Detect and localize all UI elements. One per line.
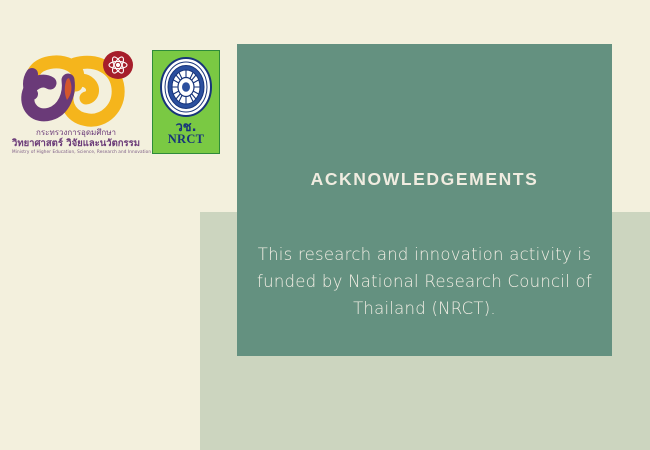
panel-title: ACKNOWLEDGEMENTS bbox=[237, 169, 612, 190]
nrct-english-abbrev: NRCT bbox=[153, 132, 219, 147]
nrct-emblem-icon bbox=[159, 56, 213, 118]
acknowledgements-panel: ACKNOWLEDGEMENTS This research and innov… bbox=[237, 44, 612, 356]
nrct-logo: วช. NRCT bbox=[152, 50, 220, 154]
slide-canvas: กระทรวงการอุดมศึกษา วิทยาศาสตร์ วิจัยและ… bbox=[0, 0, 650, 450]
mhesi-logo-mark bbox=[12, 50, 140, 128]
panel-body-text: This research and innovation activity is… bbox=[251, 241, 598, 322]
atom-icon bbox=[103, 51, 133, 79]
logo-row: กระทรวงการอุดมศึกษา วิทยาศาสตร์ วิจัยและ… bbox=[0, 44, 237, 164]
mhesi-english-line: Ministry of Higher Education, Science, R… bbox=[12, 149, 140, 154]
mhesi-logo: กระทรวงการอุดมศึกษา วิทยาศาสตร์ วิจัยและ… bbox=[12, 50, 140, 162]
